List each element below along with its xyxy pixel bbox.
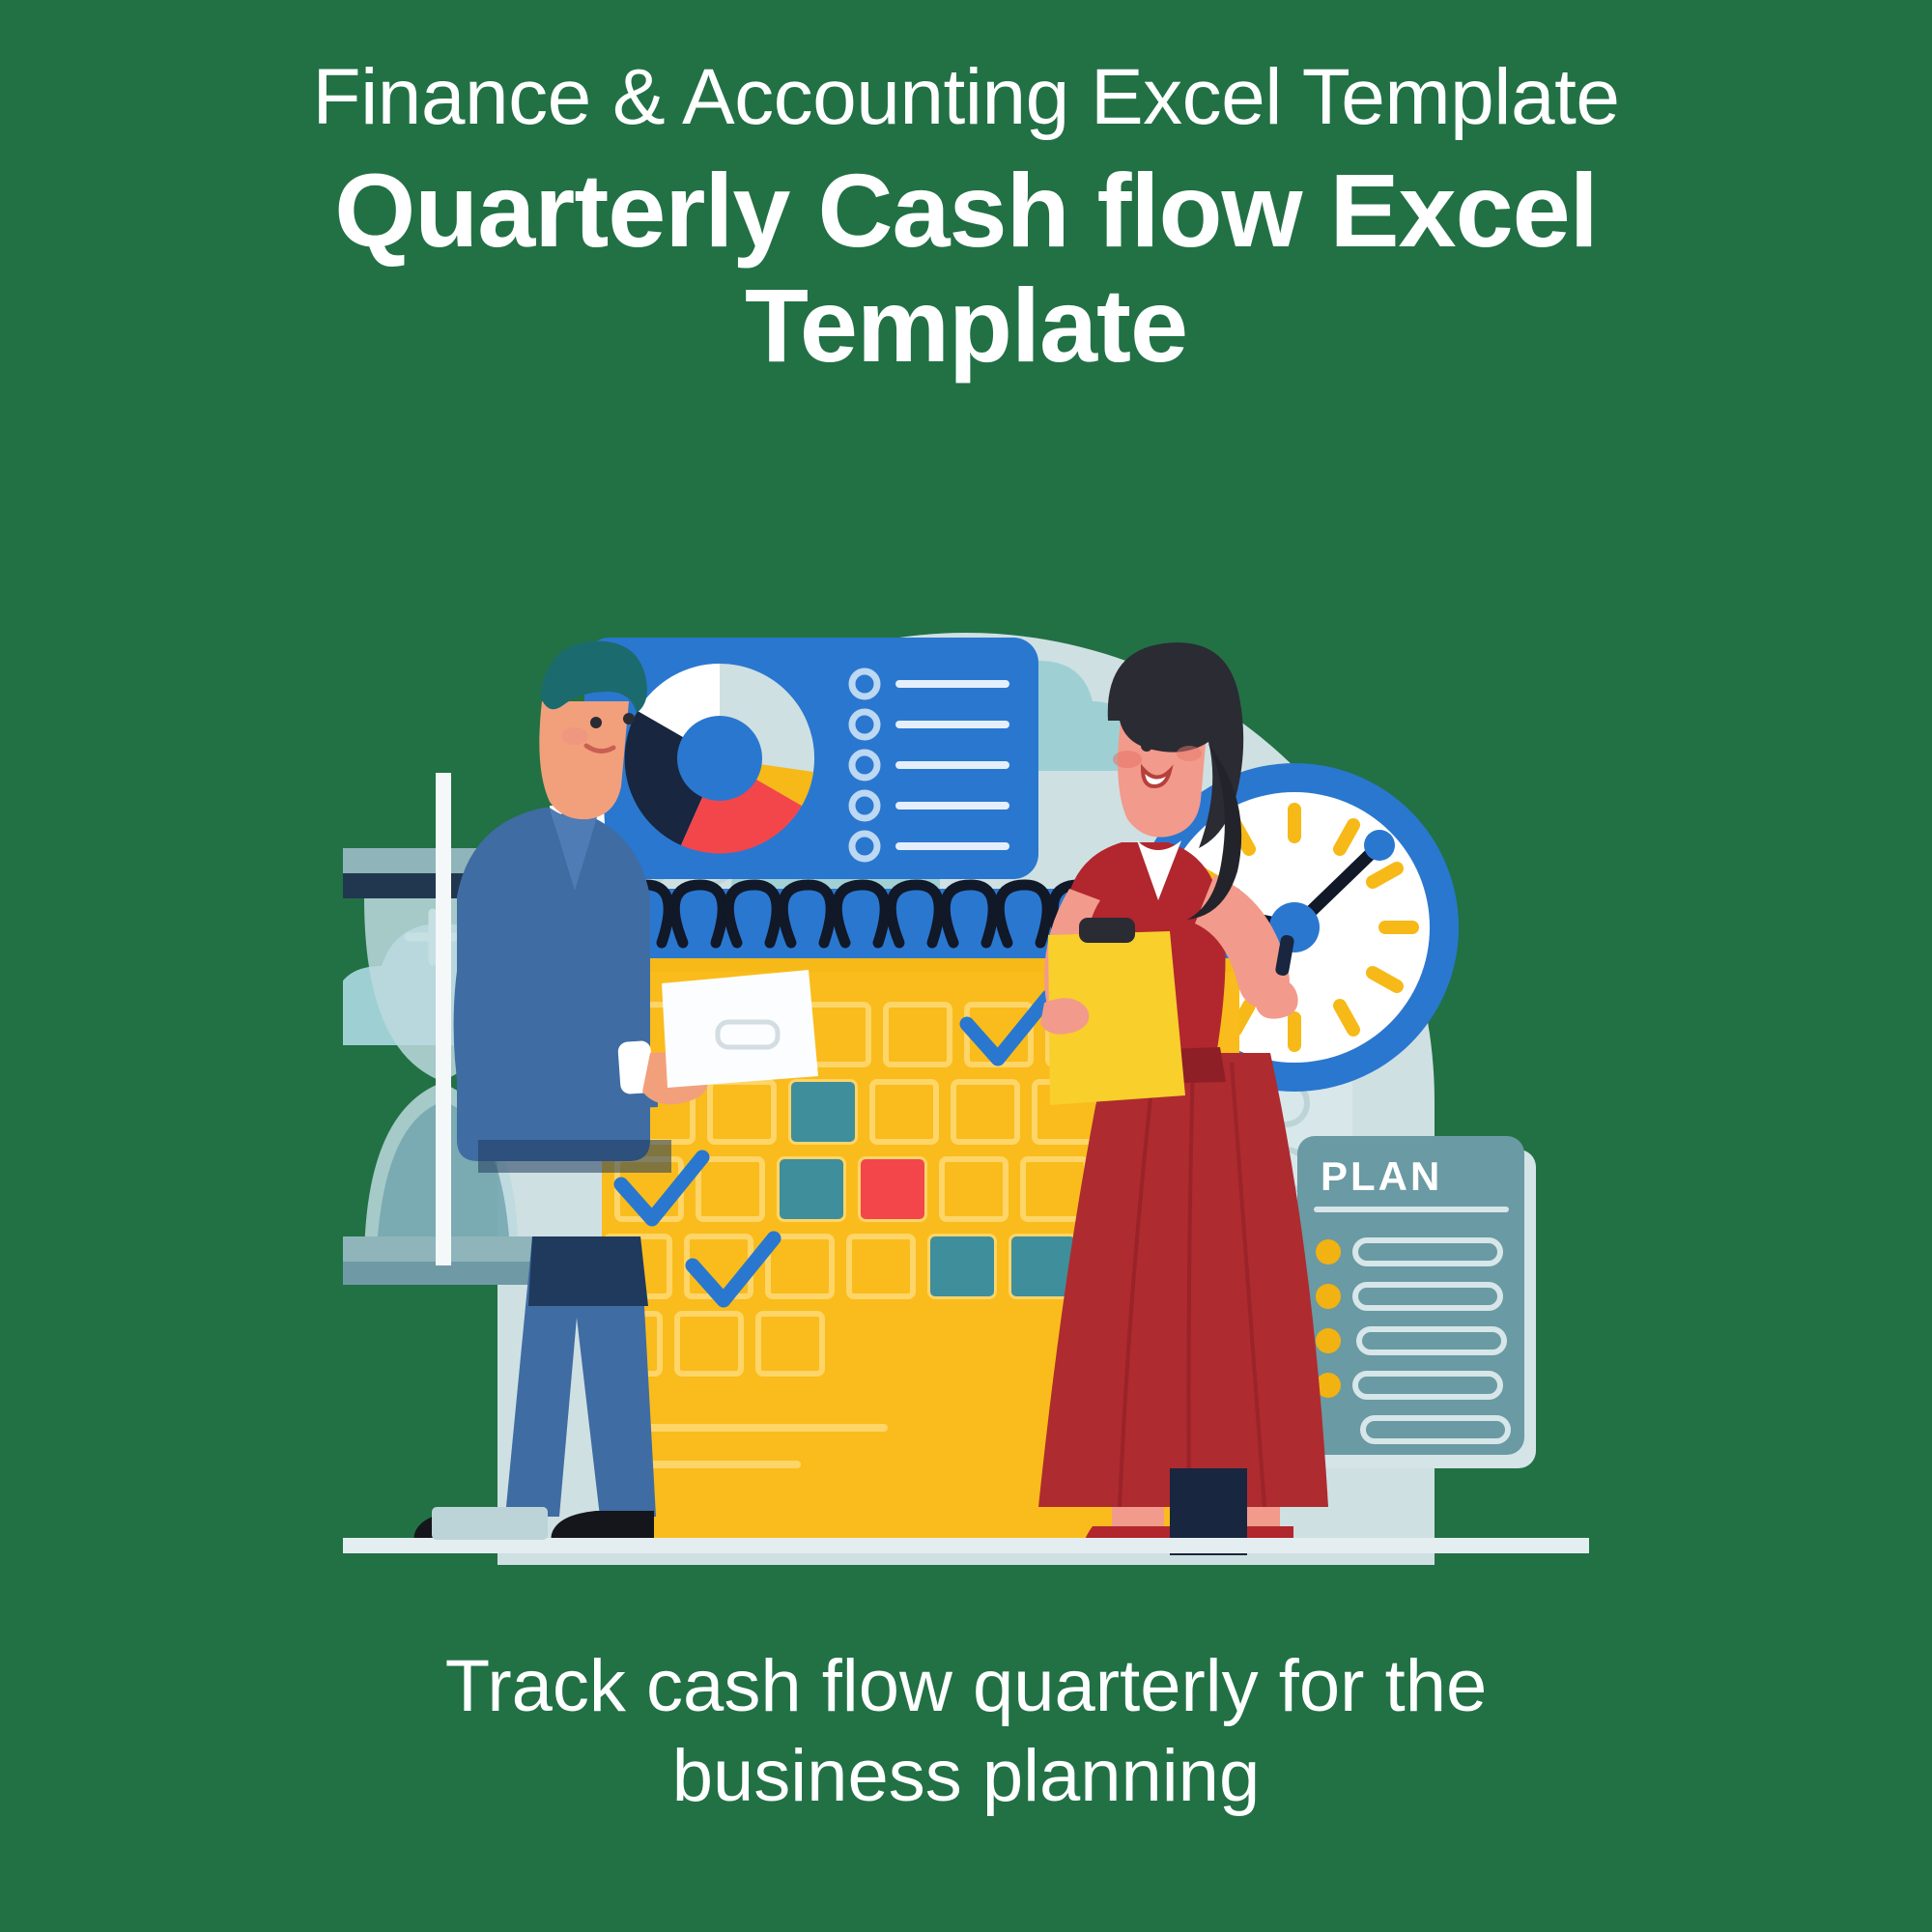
plan-card: PLAN: [1297, 1136, 1536, 1468]
donut-chart: [625, 664, 814, 853]
eyebrow-text: Finance & Accounting Excel Template: [116, 56, 1816, 138]
poster-root: Finance & Accounting Excel Template Quar…: [0, 0, 1932, 1932]
document-in-hand: [662, 970, 818, 1088]
business-planning-illustration: PLAN: [343, 599, 1589, 1565]
tagline-text: Track cash flow quarterly for the busine…: [0, 1642, 1932, 1821]
plan-card-title: PLAN: [1321, 1153, 1442, 1199]
page-title: Quarterly Cash flow Excel Template: [213, 154, 1719, 384]
header: Finance & Accounting Excel Template Quar…: [116, 0, 1816, 384]
